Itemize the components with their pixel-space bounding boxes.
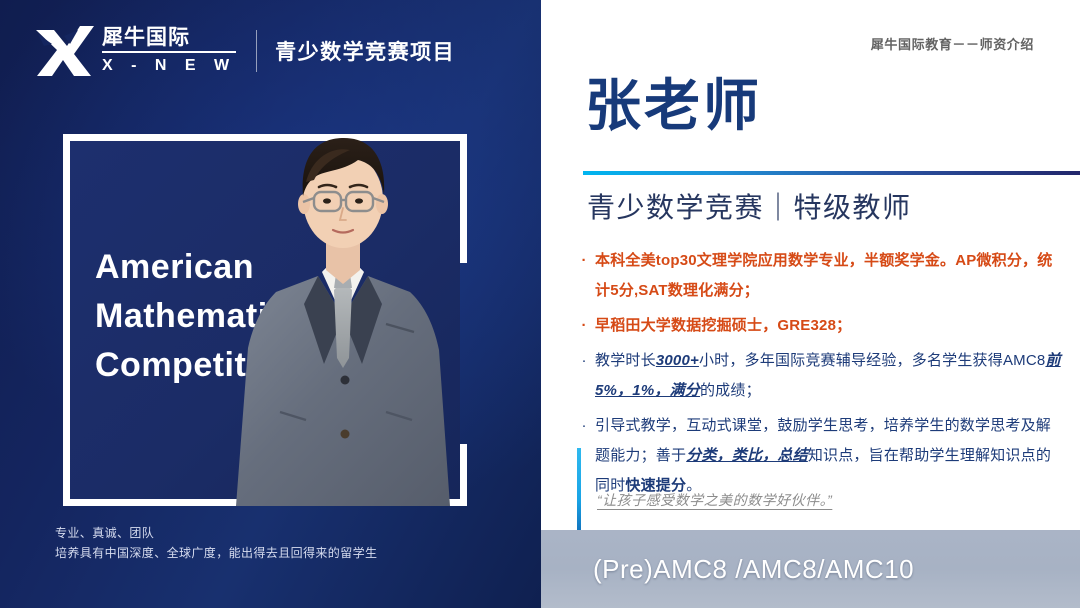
bullet-item: ·本科全美top30文理学院应用数学专业，半额奖学金。AP微积分，统计5分,SA… (573, 246, 1065, 306)
brand-name-en: X - N E W (102, 56, 236, 76)
bullet-list: ·本科全美top30文理学院应用数学专业，半额奖学金。AP微积分，统计5分,SA… (573, 246, 1065, 506)
bullet-segment: 的成绩； (700, 382, 761, 399)
bullet-segment: 本科全美top30文理学院应用数学专业，半额奖学金。AP微积分，统计5分,SAT… (595, 252, 1052, 299)
brand-name-cn: 犀牛国际 (102, 26, 236, 53)
courses-bar-text: (Pre)AMC8 /AMC8/AMC10 (593, 554, 914, 585)
slide-root: 犀牛国际 X - N E W 青少数学竞赛项目 American Mathema… (0, 0, 1080, 608)
bullet-segment: 早稻田大学数据挖掘硕士，GRE328； (595, 317, 851, 334)
bullet-marker-icon: · (573, 346, 595, 406)
teacher-portrait-photo (218, 112, 468, 506)
bullet-text: 早稻田大学数据挖掘硕士，GRE328； (595, 311, 1065, 341)
teacher-name-title: 张老师 (585, 75, 762, 137)
bullet-segment: 3000+ (656, 352, 699, 369)
bullet-text: 本科全美top30文理学院应用数学专业，半额奖学金。AP微积分，统计5分,SAT… (595, 246, 1065, 306)
cyan-accent-bar (577, 448, 581, 542)
bullet-segment: 分类，类比，总结 (686, 447, 808, 464)
brand-logo-row: 犀牛国际 X - N E W 青少数学竞赛项目 (34, 22, 455, 80)
teacher-quote: “让孩子感受数学之美的数学好伙伴。” (597, 490, 832, 510)
bullet-segment: 小时，多年国际竞赛辅导经验，多名学生获得AMC8 (699, 352, 1045, 369)
bullet-text: 教学时长3000+小时，多年国际竞赛辅导经验，多名学生获得AMC8前5%，1%，… (595, 346, 1065, 406)
right-panel: 犀牛国际教育－－师资介绍 张老师 青少数学竞赛｜特级教师 ·本科全美top30文… (541, 0, 1080, 608)
title-divider-rule (583, 171, 1080, 175)
courses-bar: (Pre)AMC8 /AMC8/AMC10 (541, 530, 1080, 608)
teacher-subtitle: 青少数学竞赛｜特级教师 (587, 188, 912, 228)
bullet-item: ·引导式教学，互动式课堂，鼓励学生思考，培养学生的数学思考及解题能力；善于分类，… (573, 411, 1065, 501)
left-panel: 犀牛国际 X - N E W 青少数学竞赛项目 American Mathema… (0, 0, 541, 608)
logo-divider (256, 30, 257, 72)
frame-edge-left (63, 134, 70, 506)
bullet-item: ·早稻田大学数据挖掘硕士，GRE328； (573, 311, 1065, 341)
brand-wordmark: 犀牛国际 X - N E W (102, 26, 236, 76)
bullet-marker-icon: · (573, 246, 595, 306)
footer-line-2: 培养具有中国深度、全球广度，能出得去且回得来的留学生 (55, 543, 377, 563)
bullet-item: ·教学时长3000+小时，多年国际竞赛辅导经验，多名学生获得AMC8前5%，1%… (573, 346, 1065, 406)
footer-line-1: 专业、真诚、团队 (55, 523, 377, 543)
bullet-text: 引导式教学，互动式课堂，鼓励学生思考，培养学生的数学思考及解题能力；善于分类，类… (595, 411, 1065, 501)
bullet-marker-icon: · (573, 311, 595, 341)
program-tag: 青少数学竞赛项目 (275, 36, 455, 66)
left-footer: 专业、真诚、团队 培养具有中国深度、全球广度，能出得去且回得来的留学生 (55, 523, 377, 563)
eyebrow-text: 犀牛国际教育－－师资介绍 (871, 34, 1034, 53)
x-new-rhino-logo-icon (34, 24, 96, 78)
bullet-segment: 教学时长 (595, 352, 656, 369)
